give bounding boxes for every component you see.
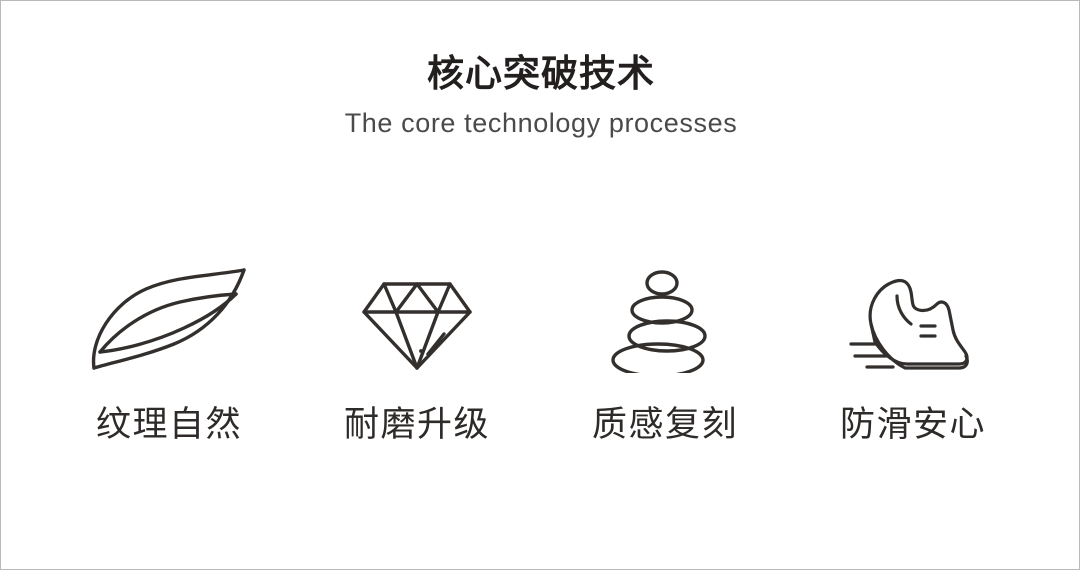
feature-label-4: 防滑安心 (840, 406, 986, 445)
feature-label-3: 质感复刻 (592, 406, 738, 445)
feature-row: 纹理自然 (45, 266, 1037, 445)
feature-item-3: 质感复刻 (541, 266, 789, 445)
feature-label-2: 耐磨升级 (344, 406, 490, 445)
page-title: 核心突破技术 (1, 53, 1080, 96)
running-shoe-icon (849, 266, 977, 376)
leaf-icon (84, 266, 254, 376)
feature-item-1: 纹理自然 (45, 266, 293, 445)
header-block: 核心突破技术 The core technology processes (1, 53, 1080, 138)
slide-canvas: 核心突破技术 The core technology processes 纹理自… (0, 0, 1080, 570)
page-subtitle: The core technology processes (1, 109, 1080, 139)
feature-label-1: 纹理自然 (96, 406, 242, 445)
feature-item-4: 防滑安心 (789, 266, 1037, 445)
stacked-stones-icon (610, 266, 720, 376)
diamond-icon (358, 266, 476, 376)
feature-item-2: 耐磨升级 (293, 266, 541, 445)
